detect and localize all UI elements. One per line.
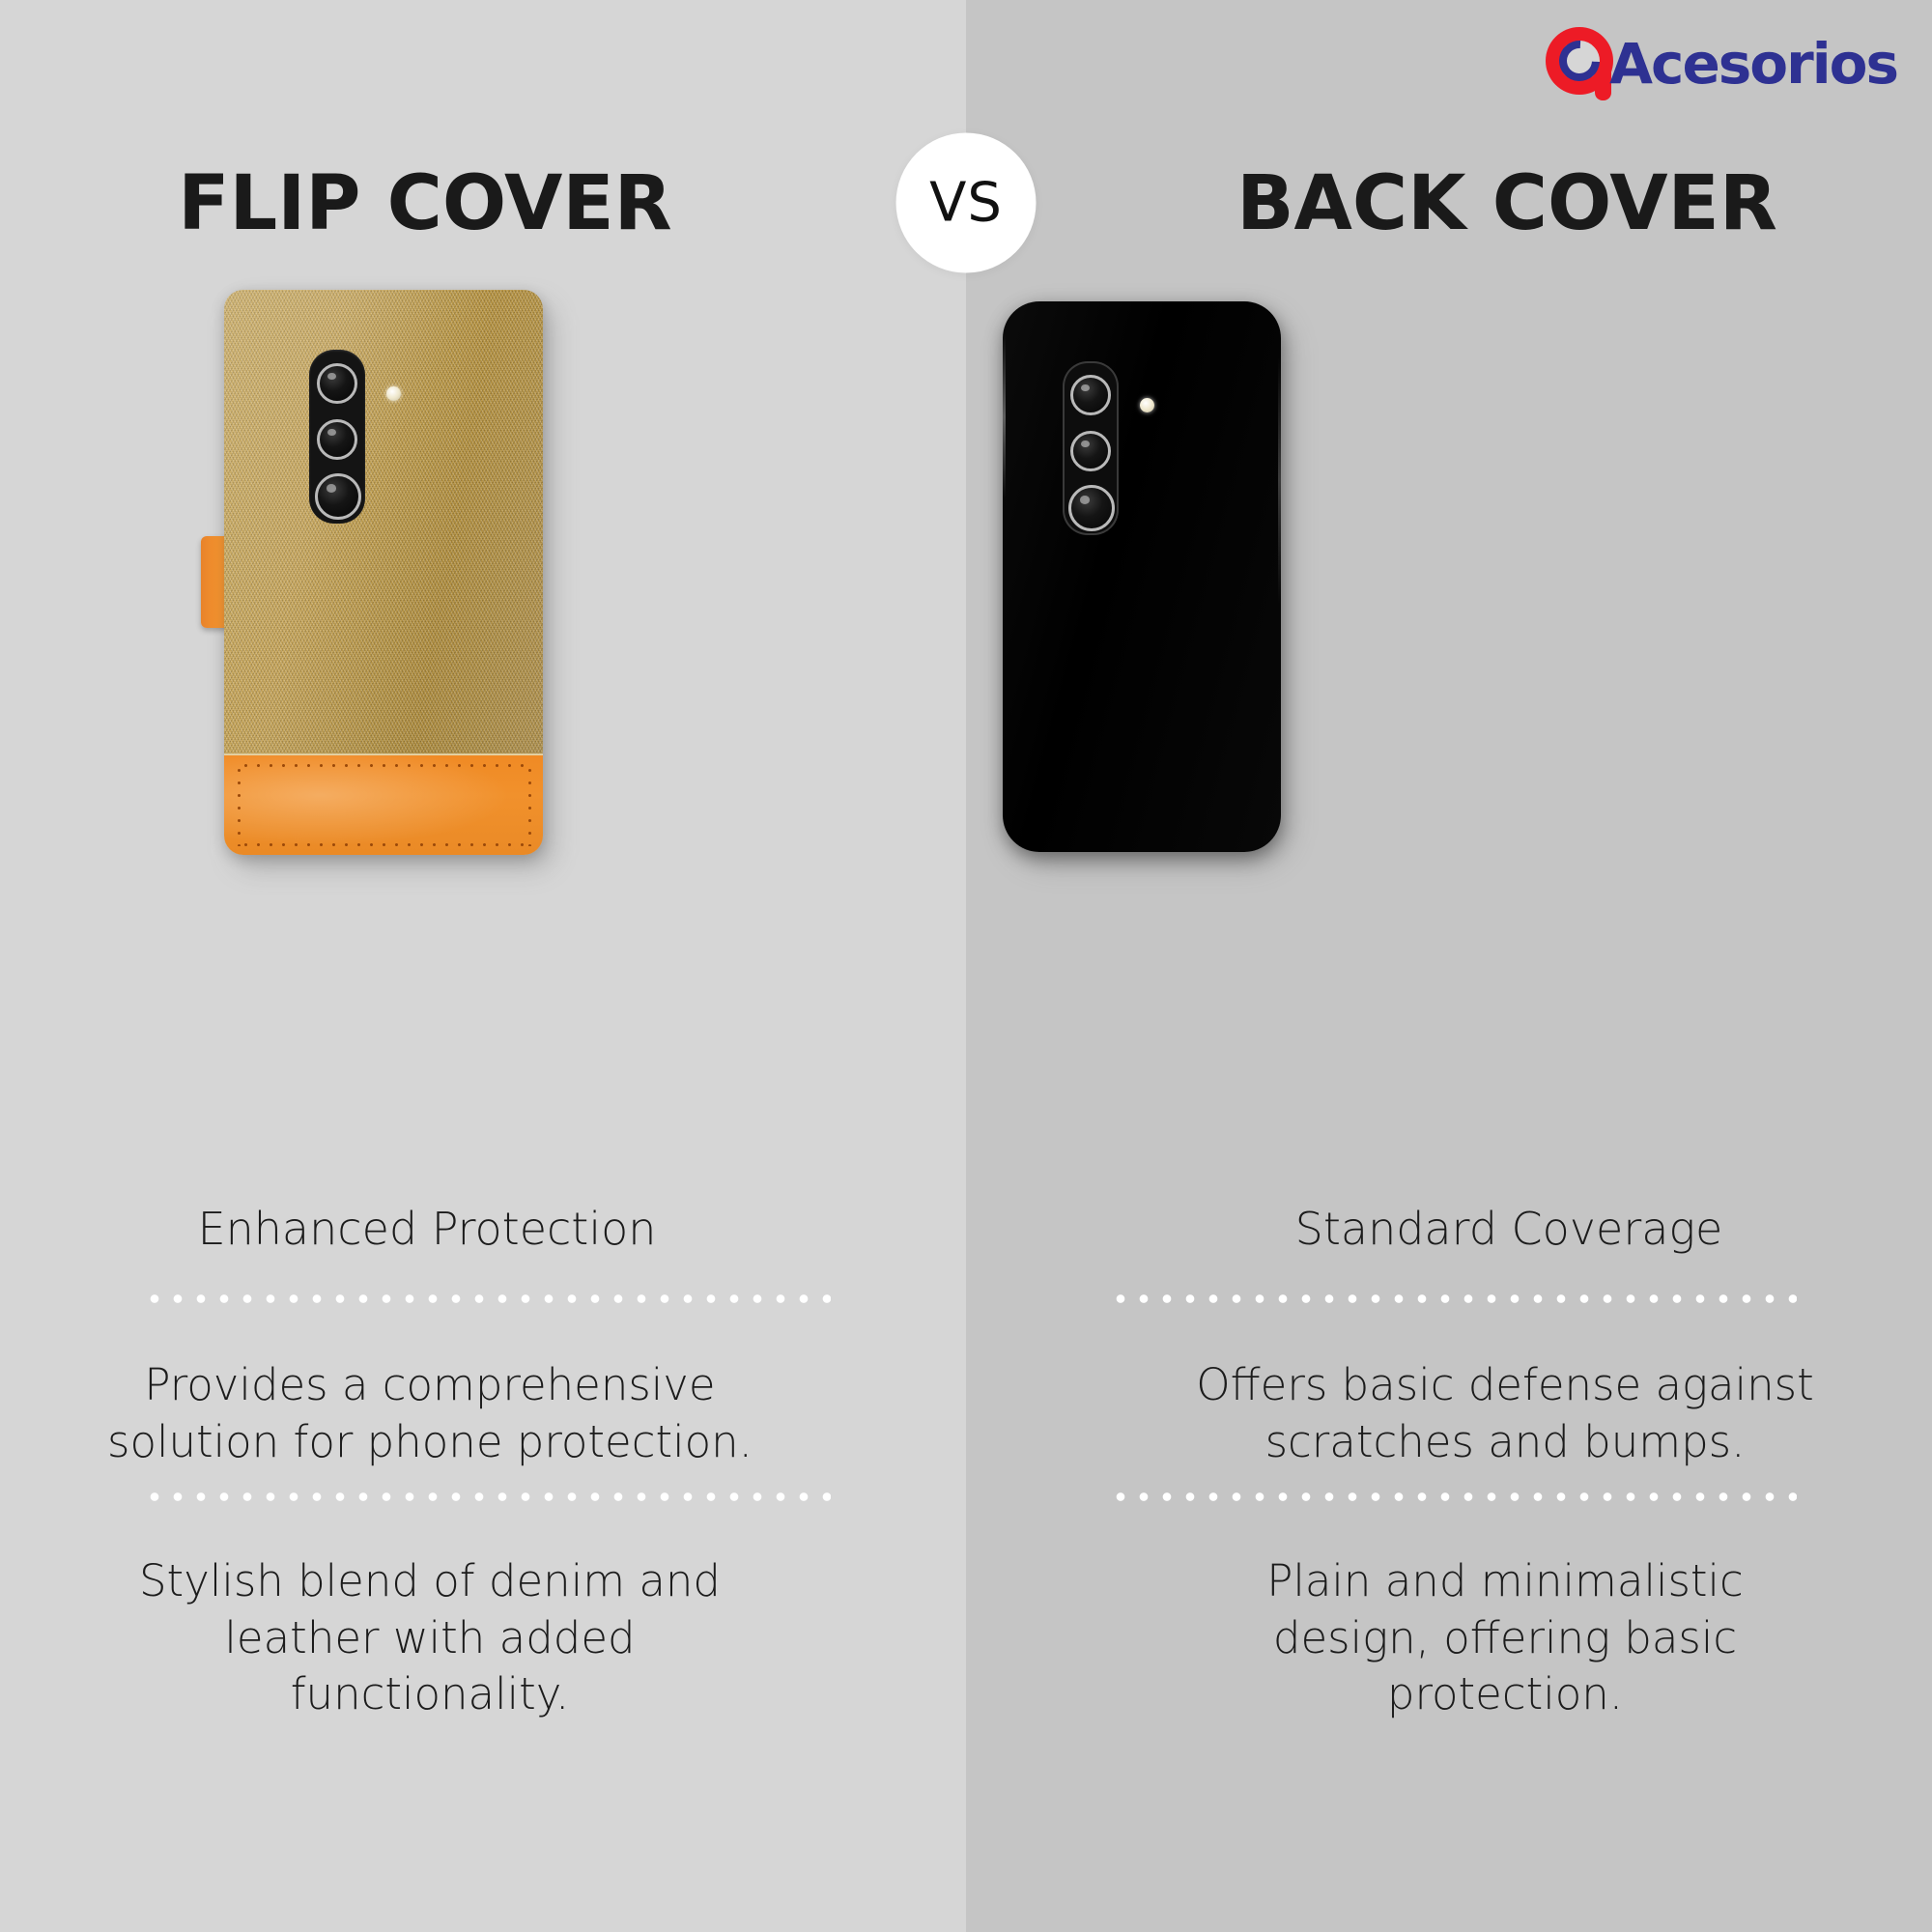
- versus-label: VS: [929, 172, 1003, 235]
- acesorios-a-mark-icon: [1546, 27, 1613, 95]
- page-title-back-cover: BACK COVER: [1024, 166, 1932, 241]
- camera-lens-macro: [1068, 485, 1115, 531]
- product-image-back-cover: [1003, 301, 1281, 852]
- caption-back-cover: Standard Coverage: [1026, 1203, 1932, 1256]
- camera-lens-main: [317, 363, 357, 404]
- camera-lens-main: [1070, 375, 1111, 415]
- camera-lens-macro: [315, 473, 361, 520]
- leather-panel: [224, 753, 543, 855]
- feature-back-2: Plain and minimalistic design, offering …: [1022, 1553, 1932, 1723]
- divider-right-2: [1109, 1492, 1797, 1501]
- camera-module-back: [1061, 361, 1206, 545]
- stitch-line-bottom: [240, 843, 529, 846]
- stitch-line-left: [238, 764, 241, 846]
- camera-flash-icon: [386, 386, 401, 401]
- product-image-flip-cover: [224, 290, 543, 855]
- camera-lens-wide: [317, 419, 357, 460]
- comparison-infographic: Acesorios FLIP COVER BACK COVER VS: [0, 0, 1932, 1932]
- feature-back-1: Offers basic defense against scratches a…: [1022, 1357, 1932, 1470]
- brand-logo[interactable]: Acesorios: [1546, 25, 1897, 97]
- divider-right-1: [1109, 1294, 1797, 1303]
- versus-badge: VS: [896, 133, 1037, 273]
- camera-lens-wide: [1070, 431, 1111, 471]
- camera-module-flip: [307, 350, 452, 533]
- page-title-flip-cover: FLIP COVER: [0, 166, 908, 241]
- brand-name: Acesorios: [1609, 36, 1897, 92]
- feature-flip-2: Stylish blend of denim and leather with …: [0, 1553, 913, 1723]
- camera-flash-icon: [1140, 398, 1154, 412]
- caption-flip-cover: Enhanced Protection: [0, 1203, 910, 1256]
- feature-flip-1: Provides a comprehensive solution for ph…: [0, 1357, 913, 1470]
- flip-cover-body: [224, 290, 543, 855]
- stitch-line-top: [240, 764, 529, 767]
- stitch-line-right: [528, 764, 531, 846]
- divider-left-2: [143, 1492, 831, 1501]
- back-cover-body: [1003, 301, 1281, 852]
- divider-left-1: [143, 1294, 831, 1303]
